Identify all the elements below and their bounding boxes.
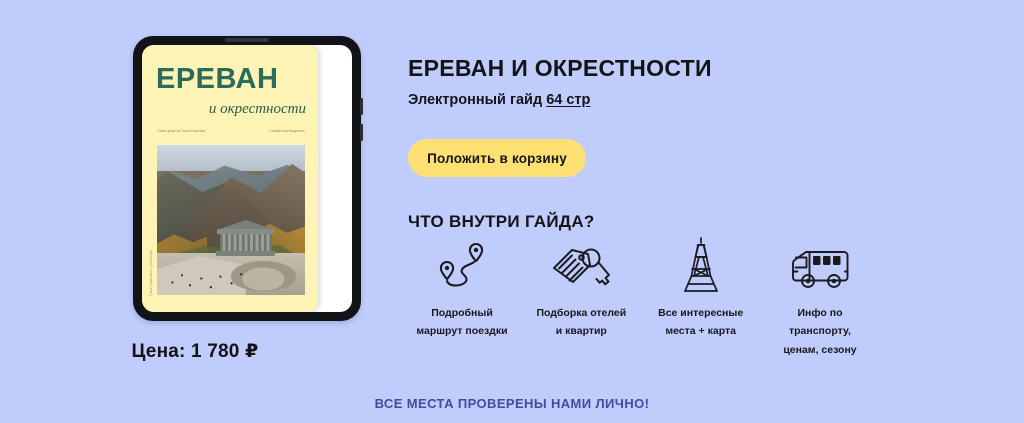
tablet-volume-down-button[interactable] (360, 124, 363, 141)
inside-guide-heading: ЧТО ВНУТРИ ГАЙДА? (408, 212, 595, 232)
feature-caption-line: маршрут поездки (416, 322, 507, 340)
guide-format-label: Электронный гайд (408, 92, 546, 108)
cover-title: ЕРЕВАН (156, 65, 278, 94)
feature-caption-line: ценам, сезону (783, 341, 856, 359)
feature-caption: Все интересные места + карта (658, 304, 743, 341)
keys-tag-icon (550, 236, 612, 294)
feature-item: Подробный маршрут поездки (406, 236, 518, 359)
page-title: ЕРЕВАН И ОКРЕСТНОСТИ (408, 55, 712, 82)
feature-item: Все интересные места + карта (645, 236, 757, 359)
feature-caption-line: транспорту, (783, 322, 856, 340)
feature-caption-line: Инфо по (783, 304, 856, 322)
feature-caption: Инфо по транспорту, ценам, сезону (783, 304, 856, 359)
guarantee-note: ВСЕ МЕСТА ПРОВЕРЕНЫ НАМИ ЛИЧНО! (0, 396, 1024, 411)
guide-pages-link[interactable]: 64 стр (546, 92, 590, 108)
feature-caption-line: Подробный (416, 304, 507, 322)
cover-subtitle: и окрестности (209, 101, 306, 118)
product-visual: ЕРЕВАН и окрестности Travel guide by Tra… (0, 0, 390, 423)
feature-caption-line: Подборка отелей (536, 304, 626, 322)
add-to-cart-button[interactable]: Положить в корзину (408, 139, 586, 177)
feature-caption: Подробный маршрут поездки (416, 304, 507, 341)
product-info: ЕРЕВАН И ОКРЕСТНОСТИ Электронный гайд 64… (406, 0, 1024, 423)
feature-list: Подробный маршрут поездки Подборка (406, 236, 876, 359)
tablet-speaker (225, 38, 269, 42)
tablet-screen: ЕРЕВАН и окрестности Travel guide by Tra… (142, 45, 352, 312)
route-pins-icon (436, 236, 488, 294)
feature-item: Подборка отелей и квартир (525, 236, 637, 359)
feature-caption-line: и квартир (536, 322, 626, 340)
price-label: Цена: 1 780 ₽ (0, 340, 390, 363)
feature-caption-line: Все интересные (658, 304, 743, 322)
feature-item: Инфо по транспорту, ценам, сезону (764, 236, 876, 359)
guide-format-line: Электронный гайд 64 стр (408, 92, 590, 108)
cover-photo-garni-temple (157, 145, 305, 295)
cover-meta-left: Travel guide by Travel Inspirator (157, 129, 206, 134)
cover-spine-text: Travel Inspirator • guidebook (149, 250, 153, 296)
feature-caption-line: места + карта (658, 322, 743, 340)
eiffel-tower-icon (681, 236, 721, 294)
product-page: ЕРЕВАН и окрестности Travel guide by Tra… (0, 0, 1024, 423)
tablet-device: ЕРЕВАН и окрестности Travel guide by Tra… (133, 36, 361, 321)
bus-icon (789, 236, 851, 294)
feature-caption: Подборка отелей и квартир (536, 304, 626, 341)
guide-cover: ЕРЕВАН и окрестности Travel guide by Tra… (142, 45, 318, 312)
tablet-volume-up-button[interactable] (360, 98, 363, 115)
cover-meta-right: Стамбул путеводитель (269, 129, 305, 134)
